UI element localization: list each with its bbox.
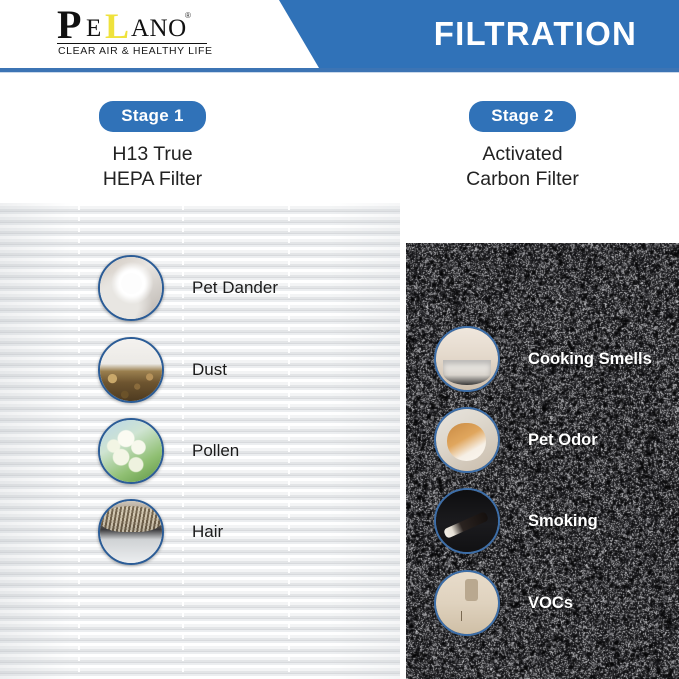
hepa-item-dust: Dust bbox=[98, 337, 227, 403]
corgi-dog-photo-icon bbox=[434, 407, 500, 473]
hepa-filter-panel: Pet Dander Dust Pollen Hair bbox=[0, 203, 400, 679]
header-bar: FILTRATION P E L ANO ® CLEAR AIR & HEALT… bbox=[0, 0, 679, 72]
stage-2-filter-name-line1: Activated bbox=[420, 142, 625, 167]
carbon-item-pet-odor: Pet Odor bbox=[434, 407, 598, 473]
brand-logo-wordmark: P E L ANO ® bbox=[57, 9, 237, 45]
stage-1-filter-name-line1: H13 True bbox=[50, 142, 255, 167]
carbon-filter-panel: Cooking Smells Pet Odor Smoking VOCs bbox=[406, 243, 679, 679]
infographic-page: FILTRATION P E L ANO ® CLEAR AIR & HEALT… bbox=[0, 0, 679, 679]
stage-2-filter-name-line2: Carbon Filter bbox=[420, 167, 625, 192]
stage-1-filter-name-line2: HEPA Filter bbox=[50, 167, 255, 192]
hepa-item-label-2: Pollen bbox=[192, 441, 239, 461]
carbon-item-vocs: VOCs bbox=[434, 570, 573, 636]
hepa-item-pet-dander: Pet Dander bbox=[98, 255, 278, 321]
frying-pan-photo-icon bbox=[434, 326, 500, 392]
hepa-item-label-3: Hair bbox=[192, 522, 223, 542]
stage-1-heading: Stage 1 H13 True HEPA Filter bbox=[50, 101, 255, 192]
brand-tagline: CLEAR AIR & HEALTHY LIFE bbox=[58, 45, 213, 57]
stage-2-filter-name: Activated Carbon Filter bbox=[420, 142, 625, 192]
brand-letter-e: E bbox=[86, 15, 101, 43]
hairbrush-photo-icon bbox=[98, 499, 164, 565]
dust-photo-icon bbox=[98, 337, 164, 403]
registered-trademark-icon: ® bbox=[185, 11, 191, 20]
stage-2-heading: Stage 2 Activated Carbon Filter bbox=[420, 101, 625, 192]
header-rule-light bbox=[0, 72, 679, 73]
brand-letter-p: P bbox=[57, 5, 81, 45]
carbon-item-label-1: Pet Odor bbox=[528, 431, 598, 450]
carbon-item-smoking: Smoking bbox=[434, 488, 598, 554]
stage-2-badge: Stage 2 bbox=[469, 101, 576, 132]
stage-1-filter-name: H13 True HEPA Filter bbox=[50, 142, 255, 192]
hepa-item-label-0: Pet Dander bbox=[192, 278, 278, 298]
paint-roller-photo-icon bbox=[434, 570, 500, 636]
pollen-flower-photo-icon bbox=[98, 418, 164, 484]
hepa-item-pollen: Pollen bbox=[98, 418, 239, 484]
brand-letters-ano: ANO bbox=[131, 15, 187, 43]
carbon-item-cooking-smells: Cooking Smells bbox=[434, 326, 652, 392]
carbon-item-label-2: Smoking bbox=[528, 512, 598, 531]
cigarette-photo-icon bbox=[434, 488, 500, 554]
brand-logo-divider bbox=[57, 43, 207, 44]
hepa-item-hair: Hair bbox=[98, 499, 223, 565]
brand-logo: P E L ANO ® CLEAR AIR & HEALTHY LIFE bbox=[57, 9, 237, 63]
brand-letter-l: L bbox=[105, 8, 129, 44]
carbon-item-label-0: Cooking Smells bbox=[528, 350, 652, 369]
stage-1-badge: Stage 1 bbox=[99, 101, 206, 132]
header-title: FILTRATION bbox=[434, 14, 637, 54]
hepa-seam-3 bbox=[288, 203, 290, 679]
carbon-item-label-3: VOCs bbox=[528, 594, 573, 613]
hepa-item-label-1: Dust bbox=[192, 360, 227, 380]
cat-photo-icon bbox=[98, 255, 164, 321]
hepa-seam-1 bbox=[78, 203, 80, 679]
